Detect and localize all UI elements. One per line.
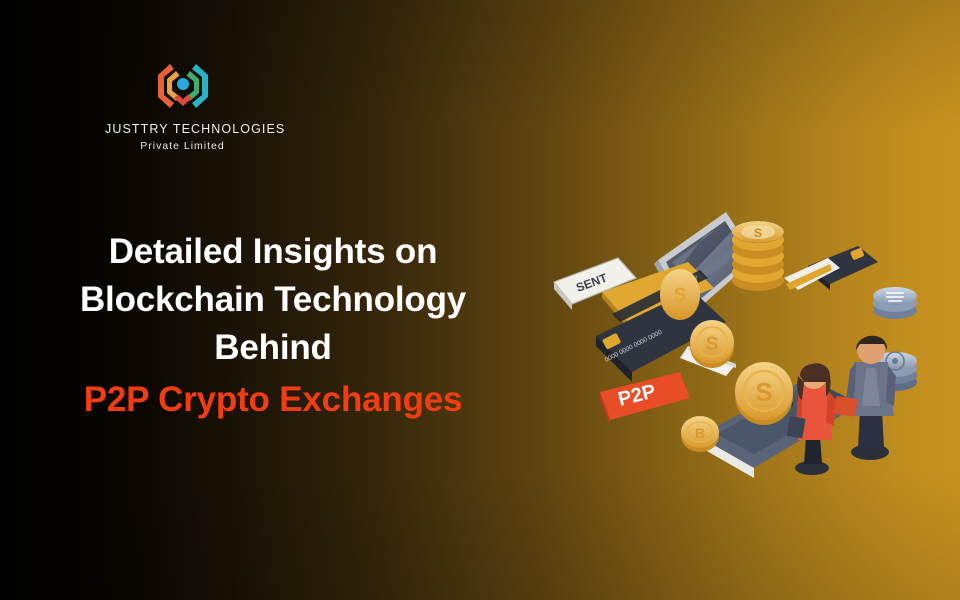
floating-gold-coin: S bbox=[690, 320, 734, 368]
phone-gold-coin: S bbox=[735, 362, 793, 425]
screen-gold-coin: S bbox=[660, 269, 700, 320]
headline-line-1: Detailed Insights on bbox=[58, 228, 488, 276]
card-wallet bbox=[784, 246, 878, 290]
svg-text:S: S bbox=[754, 226, 762, 240]
bitcoin-symbol-label: B bbox=[695, 425, 705, 441]
svg-text:S: S bbox=[755, 377, 772, 407]
headline-line-2: Blockchain Technology bbox=[58, 276, 488, 324]
p2p-tag: P2P bbox=[600, 372, 690, 426]
logo-company-suffix: Private Limited bbox=[105, 140, 260, 152]
coin-symbol-label: S bbox=[674, 285, 687, 306]
blue-coin-stack-upper bbox=[873, 287, 917, 319]
banner-root: JUSTTRY TECHNOLOGIES Private Limited Det… bbox=[0, 0, 960, 600]
brand-logo[interactable]: JUSTTRY TECHNOLOGIES Private Limited bbox=[105, 58, 260, 152]
gold-coin-stack: S bbox=[732, 221, 784, 291]
svg-text:S: S bbox=[706, 334, 719, 355]
headline-line-4-accent: P2P Crypto Exchanges bbox=[58, 376, 488, 424]
page-title: Detailed Insights on Blockchain Technolo… bbox=[58, 228, 488, 424]
bitcoin-coin: B bbox=[681, 416, 719, 452]
headline-line-3: Behind bbox=[58, 324, 488, 372]
justtry-hex-bracket-logo-icon bbox=[152, 58, 214, 114]
crypto-illustration: SENT 0000 0000 0000 0000 BankCard S bbox=[540, 200, 960, 490]
woman-figure bbox=[787, 363, 836, 475]
logo-company-name: JUSTTRY TECHNOLOGIES bbox=[105, 122, 260, 136]
isometric-crypto-scene: SENT 0000 0000 0000 0000 BankCard S bbox=[540, 200, 960, 490]
